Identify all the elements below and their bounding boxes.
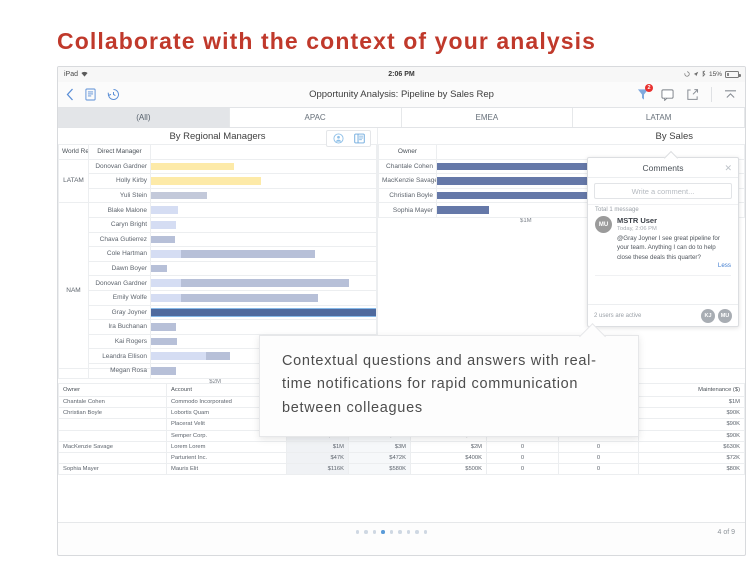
- bar: [151, 338, 177, 346]
- cell-account: Lorem Lorem: [167, 441, 287, 452]
- cell-product: $400K: [411, 452, 487, 463]
- bar-cell[interactable]: [151, 290, 377, 305]
- comment-input[interactable]: Write a comment...: [594, 183, 732, 199]
- owner-name: MacKenzie Savage: [379, 174, 437, 189]
- manager-name: Kai Rogers: [89, 334, 151, 349]
- axis-tick: $2M: [209, 379, 221, 385]
- cell-owner: Christian Boyle: [59, 408, 167, 419]
- cell-support: 0: [559, 441, 639, 452]
- status-time: 2:06 PM: [58, 71, 745, 78]
- page-dot-active[interactable]: [381, 530, 385, 534]
- avatar[interactable]: MU: [718, 309, 732, 323]
- table-row: Ira Buchanan: [59, 320, 377, 335]
- page-dot[interactable]: [390, 530, 394, 534]
- manager-name: Caryn Bright: [89, 217, 151, 232]
- page-dot[interactable]: [398, 530, 402, 534]
- cell-total: $3M: [349, 441, 411, 452]
- cell-owner: MacKenzie Savage: [59, 441, 167, 452]
- bar-cell[interactable]: [151, 261, 377, 276]
- table-row: Caryn Bright: [59, 217, 377, 232]
- page-dot[interactable]: [415, 530, 419, 534]
- list-item: MU MSTR User Today, 2:06 PM @Gray Joyner…: [595, 216, 731, 276]
- cell-maintenance: $90K: [639, 408, 745, 419]
- annotation-callout: Contextual questions and answers with re…: [259, 335, 639, 437]
- bar-cell[interactable]: [151, 276, 377, 291]
- header-world-region: World Region: [59, 145, 89, 160]
- comment-text: @Gray Joyner I see great pipeline for yo…: [617, 234, 731, 262]
- active-users-text: 2 users are active: [594, 313, 641, 319]
- table-row: Sophia Mayer Mauris Elit $116K $580K $50…: [59, 464, 745, 475]
- bar-cell[interactable]: [151, 232, 377, 247]
- filter-funnel-icon[interactable]: 2: [637, 88, 649, 101]
- manager-name: Megan Rosa: [89, 363, 151, 378]
- battery-percent: 15%: [709, 71, 722, 78]
- cell-parts: 0: [487, 464, 559, 475]
- cell-forecast: $1M: [287, 441, 349, 452]
- manager-name: Donovan Gardner: [89, 159, 151, 174]
- active-users-avatars: KJ MU: [701, 309, 732, 323]
- header-maintenance: Maintenance ($): [639, 384, 745, 397]
- table-row: Emily Wolfe: [59, 290, 377, 305]
- page-footer: 4 of 9: [58, 522, 745, 541]
- avatar: MU: [595, 216, 612, 233]
- page-dot[interactable]: [424, 530, 428, 534]
- bluetooth-icon: [702, 70, 706, 79]
- cell-maintenance: $1M: [639, 397, 745, 408]
- cell-owner: [59, 419, 167, 430]
- cell-owner: [59, 452, 167, 463]
- table-row: Yuli Stein: [59, 188, 377, 203]
- owner-name: Chantale Cohen: [379, 159, 437, 174]
- cell-total: $472K: [349, 452, 411, 463]
- regional-managers-panel: By Regional Managers World Region Direct…: [58, 128, 378, 368]
- bar-cell[interactable]: [151, 174, 377, 189]
- region-latam: LATAM: [59, 159, 89, 203]
- page-dot[interactable]: [356, 530, 360, 534]
- toolbar-divider: [711, 87, 712, 102]
- battery-icon: [725, 71, 739, 78]
- bar: [151, 192, 207, 200]
- bar-cell[interactable]: [151, 203, 377, 218]
- table-row: Parturient Inc. $47K $472K $400K 0 0 $72…: [59, 452, 745, 463]
- cell-forecast: $116K: [287, 464, 349, 475]
- manager-name: Donovan Gardner: [89, 276, 151, 291]
- header-owner: Owner: [379, 145, 437, 160]
- comment-less-link[interactable]: Less: [617, 262, 731, 269]
- cell-support: 0: [559, 452, 639, 463]
- manager-name: Yuli Stein: [89, 188, 151, 203]
- close-x-icon[interactable]: ✕: [724, 163, 732, 174]
- manager-name: Blake Malone: [89, 203, 151, 218]
- callout-text: Contextual questions and answers with re…: [282, 350, 616, 420]
- comments-panel: Comments ✕ Write a comment... Total 1 me…: [587, 157, 739, 327]
- cell-account: Parturient Inc.: [167, 452, 287, 463]
- bar: [151, 236, 175, 244]
- manager-name: Dawn Boyer: [89, 261, 151, 276]
- cell-maintenance: $630K: [639, 441, 745, 452]
- cell-total: $580K: [349, 464, 411, 475]
- share-export-icon[interactable]: [686, 88, 699, 101]
- page-dot[interactable]: [373, 530, 377, 534]
- cell-forecast: $47K: [287, 452, 349, 463]
- tab-emea[interactable]: EMEA: [402, 108, 574, 127]
- manager-name: Cole Hartman: [89, 247, 151, 262]
- filter-badge: 2: [645, 84, 653, 92]
- cell-maintenance: $90K: [639, 419, 745, 430]
- table-row: MacKenzie Savage Lorem Lorem $1M $3M $2M…: [59, 441, 745, 452]
- header-direct-manager: Direct Manager: [89, 145, 151, 160]
- bar: [181, 294, 317, 302]
- ipad-device-frame: iPad 2:06 PM 15%: [57, 66, 746, 556]
- comments-footer: 2 users are active KJ MU: [588, 304, 738, 326]
- bar: [151, 323, 176, 331]
- bar: [151, 177, 261, 185]
- page-dots[interactable]: [356, 530, 428, 534]
- grid-view-icon[interactable]: [349, 132, 369, 145]
- collapse-up-icon[interactable]: [724, 89, 737, 100]
- chevron-left-icon[interactable]: [66, 88, 74, 101]
- bar: [437, 206, 489, 214]
- cell-support: 0: [559, 464, 639, 475]
- table-row: Holly Kirby: [59, 174, 377, 189]
- ios-status-bar: iPad 2:06 PM 15%: [58, 67, 745, 82]
- comment-author: MSTR User: [617, 216, 731, 225]
- cell-product: $2M: [411, 441, 487, 452]
- comment-bubble-icon[interactable]: [661, 88, 674, 101]
- manager-name: Holly Kirby: [89, 174, 151, 189]
- tab-all[interactable]: (All): [58, 108, 230, 127]
- slide-headline: Collaborate with the context of your ana…: [57, 28, 596, 55]
- page-dot[interactable]: [407, 530, 411, 534]
- bar: [151, 221, 176, 229]
- bar-cell-selected[interactable]: [151, 305, 377, 320]
- comment-time: Today, 2:06 PM: [617, 226, 731, 232]
- bar-cell[interactable]: [151, 188, 377, 203]
- cell-maintenance: $72K: [639, 452, 745, 463]
- owner-name: Christian Boyle: [379, 188, 437, 203]
- axis-tick: $1M: [520, 218, 532, 224]
- bar: [151, 367, 176, 375]
- app-toolbar: Opportunity Analysis: Pipeline by Sales …: [58, 82, 745, 108]
- region-tab-bar[interactable]: (All) APAC EMEA LATAM: [58, 108, 745, 128]
- bar-cell[interactable]: [151, 159, 377, 174]
- comments-total: Total 1 message: [588, 204, 738, 216]
- cell-maintenance: $90K: [639, 430, 745, 441]
- bar: [151, 206, 178, 214]
- table-row: Cole Hartman: [59, 247, 377, 262]
- right-chart-title: By Sales: [378, 128, 745, 144]
- page-count-label: 4 of 9: [717, 529, 735, 536]
- manager-name-selected: Gray Joyner: [89, 305, 151, 320]
- history-clock-icon[interactable]: [107, 88, 120, 101]
- rotation-lock-icon: [684, 71, 690, 79]
- cell-product: $500K: [411, 464, 487, 475]
- table-row: Dawn Boyer: [59, 261, 377, 276]
- avatar[interactable]: KJ: [701, 309, 715, 323]
- dashboard-canvas: By Regional Managers World Region Direct…: [58, 128, 745, 541]
- cell-owner: [59, 430, 167, 441]
- bar-selected: [151, 308, 376, 318]
- cell-owner: Sophia Mayer: [59, 464, 167, 475]
- cell-account: Mauris Elit: [167, 464, 287, 475]
- owner-name: Sophia Mayer: [379, 203, 437, 218]
- tab-latam[interactable]: LATAM: [573, 108, 745, 127]
- cell-parts: 0: [487, 452, 559, 463]
- manager-name: Chava Gutierrez: [89, 232, 151, 247]
- manager-name: Emily Wolfe: [89, 290, 151, 305]
- cell-parts: 0: [487, 441, 559, 452]
- person-circle-icon[interactable]: [328, 132, 348, 145]
- tab-apac[interactable]: APAC: [230, 108, 402, 127]
- bar: [437, 192, 591, 200]
- bar-cell[interactable]: [151, 247, 377, 262]
- comments-title: Comments: [642, 163, 683, 173]
- manager-name: Leandra Ellison: [89, 349, 151, 364]
- comments-header: Comments ✕: [588, 158, 738, 178]
- bar: [181, 250, 315, 258]
- table-row: LATAM Donovan Gardner: [59, 159, 377, 174]
- table-row: Gray Joyner: [59, 305, 377, 320]
- view-toggle-group[interactable]: [326, 130, 371, 147]
- page-dot[interactable]: [364, 530, 368, 534]
- bar-cell[interactable]: [151, 217, 377, 232]
- document-icon[interactable]: [85, 88, 96, 101]
- table-row: NAM Blake Malone: [59, 203, 377, 218]
- location-arrow-icon: [693, 71, 699, 79]
- region-nam: NAM: [59, 203, 89, 378]
- comments-list: MU MSTR User Today, 2:06 PM @Gray Joyner…: [588, 216, 738, 304]
- bar: [151, 163, 234, 171]
- table-row: Chava Gutierrez: [59, 232, 377, 247]
- bar-cell[interactable]: [151, 320, 377, 335]
- manager-name: Ira Buchanan: [89, 320, 151, 335]
- bar: [151, 265, 167, 273]
- bar: [206, 352, 230, 360]
- cell-owner: Chantale Cohen: [59, 397, 167, 408]
- bar: [181, 279, 349, 287]
- table-row: Donovan Gardner: [59, 276, 377, 291]
- cell-maintenance: $80K: [639, 464, 745, 475]
